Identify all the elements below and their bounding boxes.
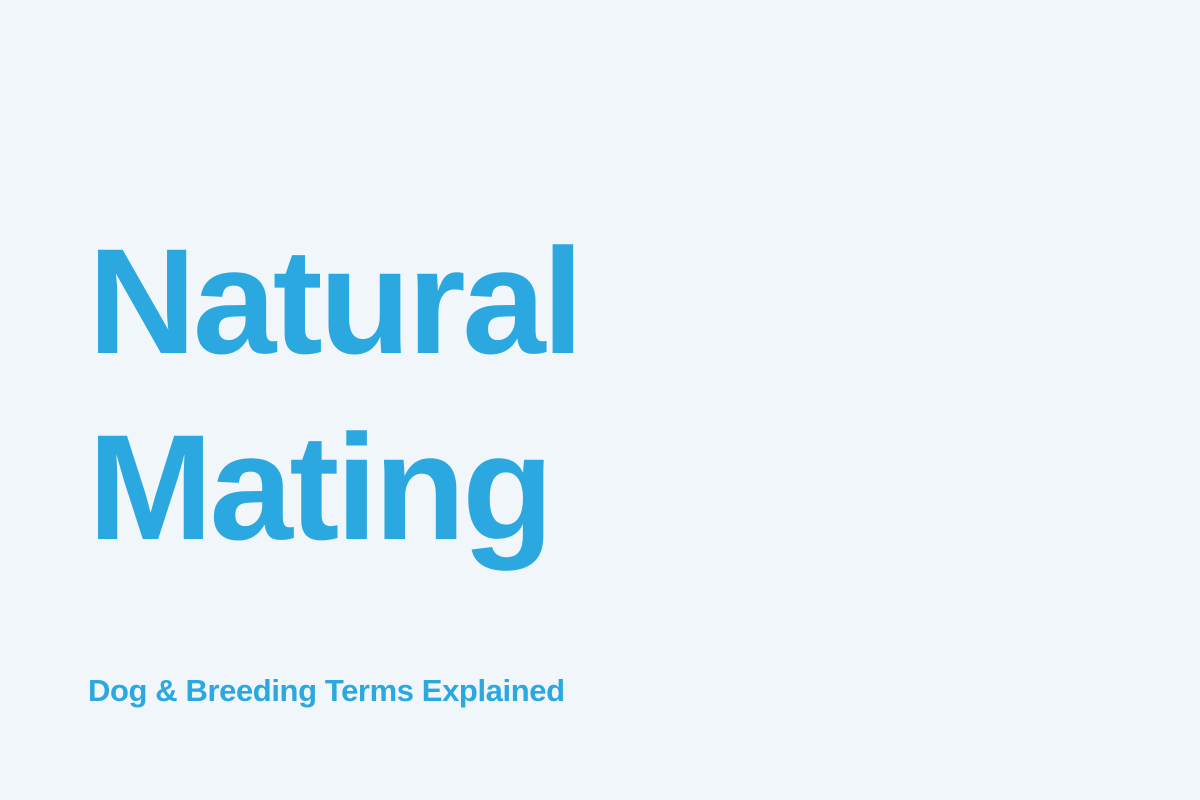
page-subtitle: Dog & Breeding Terms Explained (88, 672, 1108, 710)
title-card: Natural Mating Dog & Breeding Terms Expl… (0, 0, 1200, 800)
headline-block: Natural Mating (88, 208, 1108, 580)
subtitle-block: Dog & Breeding Terms Explained (88, 672, 1108, 710)
page-title: Natural Mating (88, 208, 1108, 580)
